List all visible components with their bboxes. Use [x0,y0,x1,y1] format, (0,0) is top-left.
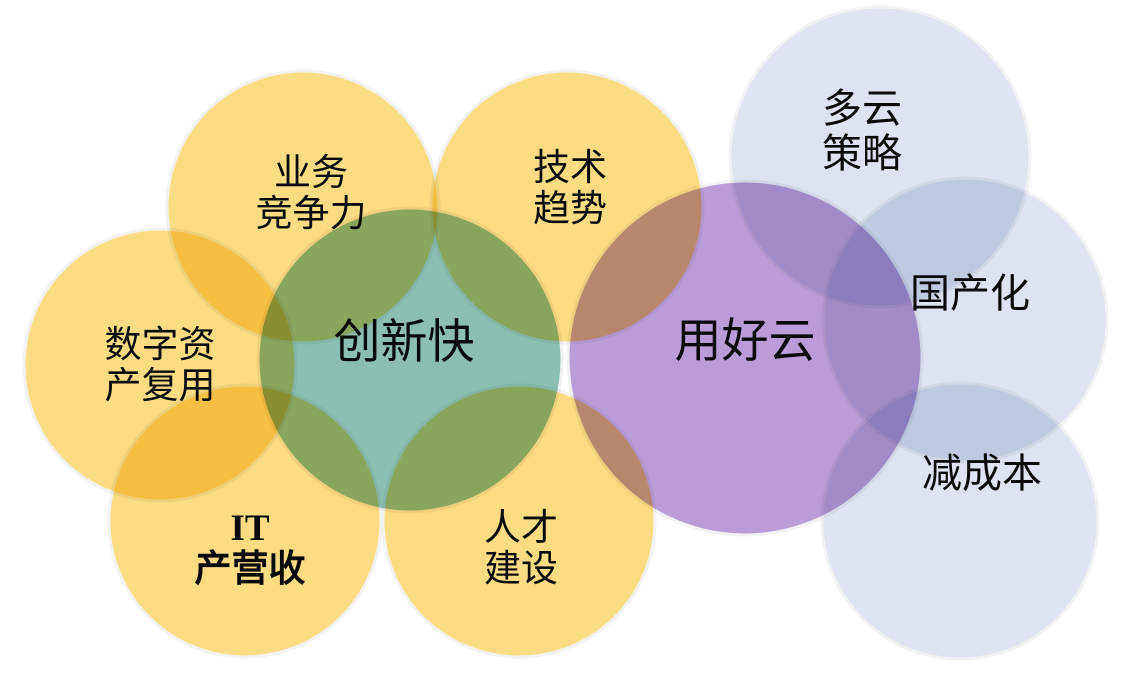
venn-circle-innovate-fast[interactable] [258,208,562,512]
venn-circle-cost-reduction[interactable] [822,383,1098,659]
venn-circles-svg: .vc { mix-blend-mode: multiply; } [0,0,1129,687]
venn-diagram-canvas: .vc { mix-blend-mode: multiply; } 数字资 产复… [0,0,1129,687]
